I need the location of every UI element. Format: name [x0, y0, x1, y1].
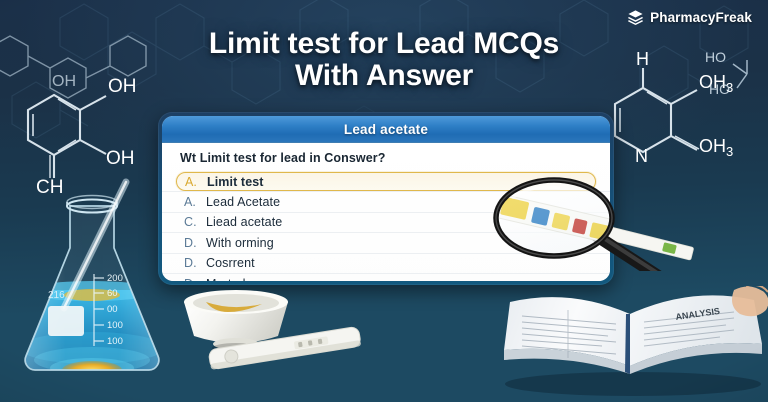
quiz-option-label: Lead Acetate — [206, 195, 280, 209]
quiz-option-letter: A. — [185, 175, 200, 189]
quiz-option-label: Limit test — [207, 175, 264, 189]
svg-text:OH3: OH3 — [699, 136, 733, 159]
svg-text:N: N — [635, 146, 648, 166]
svg-text:200: 200 — [107, 273, 123, 284]
svg-text:60: 60 — [107, 288, 118, 299]
stacked-layers-icon — [627, 9, 644, 26]
quiz-option-letter: A. — [184, 195, 199, 209]
quiz-card-header: Lead acetate — [162, 116, 610, 143]
svg-text:100: 100 — [107, 320, 123, 331]
lateral-flow-test-cassette — [205, 326, 365, 379]
quiz-option-letter: D. — [184, 256, 199, 270]
brand-name: PharmacyFreak — [650, 10, 752, 25]
page-title-line2: With Answer — [120, 60, 648, 92]
quiz-question: Wt Limit test for lead in Conswer? — [162, 151, 610, 172]
open-textbook: ANALYSIS — [498, 286, 768, 401]
quiz-card-header-title: Lead acetate — [344, 122, 428, 137]
quiz-option-label: With orming — [206, 236, 274, 250]
quiz-option-letter: C. — [184, 215, 199, 229]
poster-canvas: OH OH CH OH — [0, 0, 768, 402]
quiz-option-label: Liead acetate — [206, 215, 282, 229]
page-title: Limit test for Lead MCQs With Answer — [0, 28, 768, 92]
svg-text:00: 00 — [107, 304, 118, 315]
quiz-option-letter: D. — [184, 277, 199, 281]
quiz-option-label: Martadem — [206, 277, 263, 281]
erlenmeyer-flask: 200 60 00 100 100 216 — [8, 178, 176, 402]
quiz-option-label: Cosrrent — [206, 256, 255, 270]
page-title-line1: Limit test for Lead MCQs — [209, 27, 559, 60]
svg-text:100: 100 — [107, 336, 123, 347]
svg-text:216: 216 — [48, 290, 65, 301]
quiz-option-letter: D. — [184, 236, 199, 250]
brand-logo: PharmacyFreak — [627, 9, 752, 26]
svg-text:OH: OH — [106, 148, 135, 169]
magnifying-glass — [486, 176, 696, 276]
